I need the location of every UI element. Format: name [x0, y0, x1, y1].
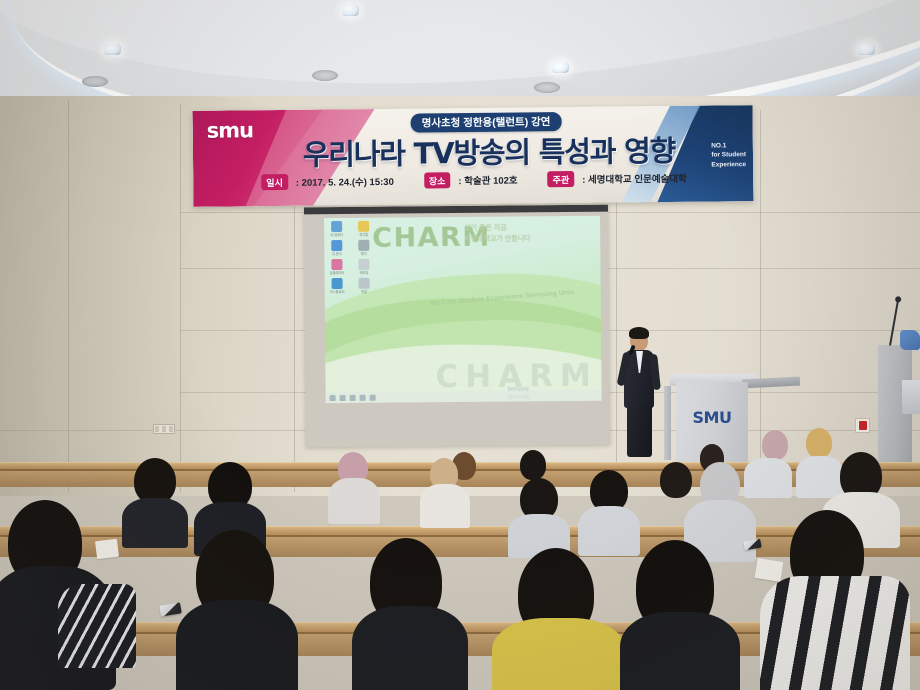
audience-head	[762, 430, 788, 460]
banner-smu-logo: smu	[207, 118, 254, 142]
banner-date-value: : 2017. 5. 24.(수) 15:30	[296, 174, 394, 189]
icon-caption: 한글	[354, 290, 375, 294]
banner-slogan-line1: NO.1	[711, 142, 726, 149]
screen-roller-bar	[304, 205, 608, 215]
speaker-trousers	[627, 405, 652, 457]
desktop-icon-grid: 내 컴퓨터 휴지통 내 문서 폴더 곰플레이어	[326, 221, 377, 295]
icon-caption: 휴지통	[353, 233, 374, 237]
taskbar-item-4[interactable]	[370, 394, 376, 400]
taskbar-item-3[interactable]	[360, 394, 366, 400]
podium-stem	[664, 386, 671, 460]
banner-host-tag: 주관	[548, 171, 575, 187]
audience-head	[660, 462, 692, 498]
smartphone-on-desk[interactable]	[159, 602, 182, 616]
banner-slogan-line2: for Student	[711, 152, 746, 159]
charm-korean-tagline: 살기 좋은 지금 세명대학교가 만듭니다	[464, 223, 531, 245]
browser-icon[interactable]: 익스플로러	[327, 278, 348, 294]
striped-sweater	[58, 584, 136, 668]
taskbar-item-2[interactable]	[350, 394, 356, 400]
banner-host-value: : 세명대학교 인문예술대학	[582, 171, 687, 186]
icon-caption: 내 문서	[326, 252, 347, 256]
audience-body	[328, 478, 380, 524]
audience-body-front	[352, 606, 468, 690]
icon-caption: 익스플로러	[327, 290, 348, 294]
wall-switch-plate[interactable]	[153, 424, 175, 434]
my-computer-icon[interactable]: 내 컴퓨터	[326, 221, 347, 237]
audience-body	[420, 484, 470, 528]
app-icon[interactable]: 한글	[354, 278, 375, 294]
spotlight-1	[104, 44, 121, 55]
spotlight-3	[858, 44, 875, 55]
audience-body-front	[620, 612, 740, 690]
projected-desktop: CHARM 살기 좋은 지금 세명대학교가 만듭니다 No.1 for Stud…	[324, 216, 602, 403]
wall-seam-v5	[760, 110, 761, 492]
recycle-bin-icon[interactable]: 휴지통	[353, 221, 374, 237]
document-icon[interactable]: 내 문서	[326, 240, 347, 256]
text-file-icon[interactable]: 메모장	[353, 259, 374, 275]
banner-slogan-line3: Experience	[711, 161, 746, 168]
event-banner: smu 명사초청 정한용(탤런트) 강연 우리나라 TV방송의 특성과 영향 일…	[193, 105, 754, 207]
banner-place-value: : 학술관 102호	[458, 173, 517, 188]
charm-kr-line2: 세명대학교가 만듭니다	[464, 234, 530, 245]
wall-seam-v2	[180, 104, 181, 492]
banner-slogan: NO.1 for Student Experience	[711, 141, 746, 170]
downlight-3	[534, 82, 560, 93]
audience-body	[796, 456, 844, 498]
podium-smu-logo: SMU	[676, 408, 748, 427]
blue-cloth	[900, 330, 920, 350]
downlight-1	[82, 76, 108, 87]
projection-screen: CHARM 살기 좋은 지금 세명대학교가 만듭니다 No.1 for Stud…	[304, 205, 610, 448]
banner-title: 우리나라 TV방송의 특성과 영향	[279, 128, 699, 174]
audience-body	[578, 506, 640, 556]
audience-body-striped-2	[760, 576, 910, 690]
desktop-taskbar[interactable]	[326, 390, 602, 403]
folder-icon[interactable]: 폴더	[353, 240, 374, 256]
spotlight-4	[342, 5, 359, 16]
icon-caption: 내 컴퓨터	[326, 233, 347, 237]
downlight-2	[312, 70, 338, 81]
banner-place-tag: 장소	[424, 172, 451, 188]
audience-body	[744, 458, 792, 498]
audience-body-front	[176, 600, 298, 690]
icon-caption: 메모장	[354, 271, 375, 275]
fire-extinguisher-sign-icon	[855, 418, 870, 433]
rack-control-panel[interactable]	[902, 380, 920, 414]
charm-kr-line1: 살기 좋은 지금	[464, 223, 530, 234]
audience-head	[520, 450, 546, 480]
audience-head	[806, 428, 832, 458]
audience-body-yellow	[492, 618, 626, 690]
spotlight-2	[552, 62, 569, 73]
taskbar-item-1[interactable]	[340, 394, 346, 400]
lecture-hall-scene: smu 명사초청 정한용(탤런트) 강연 우리나라 TV방송의 특성과 영향 일…	[0, 0, 920, 690]
paper-handout	[95, 539, 119, 560]
icon-caption: 곰플레이어	[327, 271, 348, 275]
icon-caption: 폴더	[353, 252, 374, 256]
audience-body	[122, 498, 188, 548]
wall-seam-v1	[68, 100, 69, 492]
banner-date-tag: 일시	[261, 174, 288, 190]
taskbar-start-icon[interactable]	[330, 395, 336, 401]
speaker-hair	[629, 327, 649, 339]
media-player-icon[interactable]: 곰플레이어	[326, 259, 347, 275]
paper-handout-2	[755, 558, 784, 582]
